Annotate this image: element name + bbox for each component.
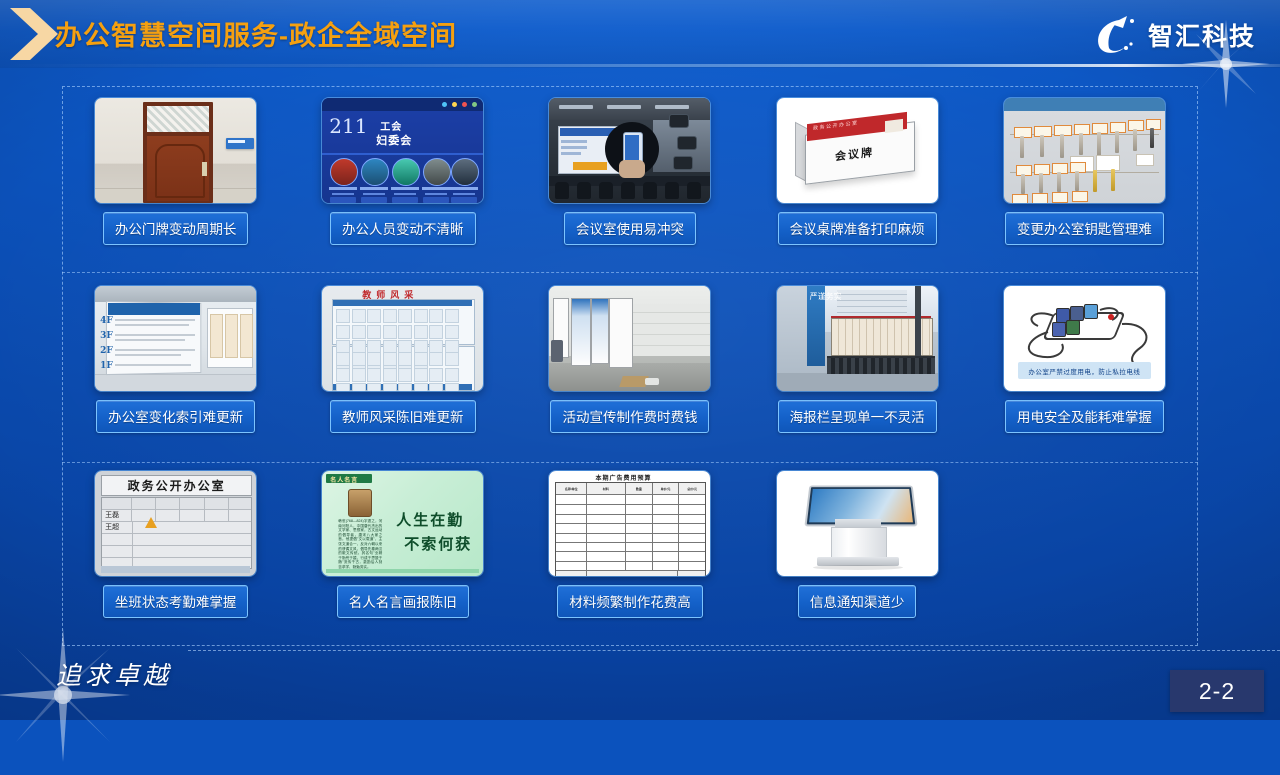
grid-item[interactable]: 信息通知渠道少 [744, 471, 971, 631]
grid-item[interactable]: 211 工会 妇委会 办公人员变动不清晰 [289, 98, 516, 258]
attendance-board-photo[interactable]: 政务公开办公室 [95, 471, 256, 576]
grid-row-3: 政务公开办公室 [62, 471, 1198, 631]
advertising-budget-table-photo[interactable]: 本期广告费用预算 名称/单位 材料 数量 单价/元 总价/元 [549, 471, 710, 576]
item-caption: 变更办公室钥匙管理难 [1005, 212, 1164, 245]
slide-header: 办公智慧空间服务-政企全域空间 智汇科技 [0, 0, 1280, 68]
brand-logo: 智汇科技 [1089, 12, 1256, 58]
plate-line-1: 工会 [380, 118, 402, 133]
slide-motto: 追求卓越 [56, 656, 172, 692]
item-caption: 名人名言画报陈旧 [337, 585, 469, 618]
quote-line-1: 人生在勤 [396, 509, 464, 530]
rollup-banners-hallway-photo[interactable] [549, 286, 710, 391]
budget-col-2: 数量 [626, 483, 654, 494]
celebrity-quote-poster-photo[interactable]: 名人名言 韩愈(768—824)字退之，河南河阳人，中国唐代杰出的文学家、思想家… [322, 471, 483, 576]
item-caption: 办公门牌变动周期长 [103, 212, 249, 245]
grid-item[interactable]: 政务公开办公室 会议牌 会议桌牌准备打印麻烦 [744, 98, 971, 258]
brand-name: 智汇科技 [1148, 17, 1256, 53]
budget-table-title: 本期广告费用预算 [595, 473, 651, 482]
grid-item[interactable]: 严谨务实 海报栏呈现单一不灵活 [744, 286, 971, 446]
poster-header: 名人名言 [330, 475, 358, 484]
meeting-room-booking-photo[interactable] [549, 98, 710, 203]
grid-item[interactable]: 4F 3F 2F 1F 办公室变化索引难更新 [62, 286, 289, 446]
grid-item[interactable]: 活动宣传制作费时费钱 [516, 286, 743, 446]
office-door-nameplate-photo[interactable] [95, 98, 256, 203]
floor-label-3: 3F [100, 331, 113, 341]
grid-item-empty [971, 471, 1198, 631]
teacher-profile-wall-photo[interactable]: 教师风采 [322, 286, 483, 391]
floor-directory-board-photo[interactable]: 4F 3F 2F 1F [95, 286, 256, 391]
grid-item[interactable]: 会议室使用易冲突 [516, 98, 743, 258]
brand-swoosh-icon [1089, 14, 1141, 56]
grid-row-2: 4F 3F 2F 1F 办公室变化索引难更新 [62, 286, 1198, 446]
floor-label-1: 1F [100, 361, 113, 371]
budget-col-3: 单价/元 [653, 483, 679, 494]
item-caption: 坐班状态考勤难掌握 [103, 585, 249, 618]
item-caption: 会议室使用易冲突 [564, 212, 696, 245]
attendance-row-2-name: 王超 [105, 522, 119, 532]
item-caption: 教师风采陈旧难更新 [330, 400, 476, 433]
poster-bulletin-wall-photo[interactable]: 严谨务实 [777, 286, 938, 391]
budget-col-1: 材料 [587, 483, 625, 494]
grid-item[interactable]: 名人名言 韩愈(768—824)字退之，河南河阳人，中国唐代杰出的文学家、思想家… [289, 471, 516, 631]
budget-col-0: 名称/单位 [556, 483, 587, 494]
floor-label-2: 2F [100, 346, 113, 356]
grid-item[interactable]: 变更办公室钥匙管理难 [971, 98, 1198, 258]
item-caption: 办公人员变动不清晰 [330, 212, 476, 245]
grid-item[interactable]: 政务公开办公室 [62, 471, 289, 631]
item-caption: 海报栏呈现单一不灵活 [778, 400, 937, 433]
grid-item[interactable]: 办公室严禁过度用电，防止私拉电线 用电安全及能耗难掌握 [971, 286, 1198, 446]
page-number-badge: 2-2 [1170, 670, 1264, 712]
safety-caption: 办公室严禁过度用电，防止私拉电线 [1018, 362, 1151, 379]
item-caption: 活动宣传制作费时费钱 [550, 400, 709, 433]
attendance-board-title: 政务公开办公室 [128, 477, 226, 494]
footer-divider [188, 650, 1280, 651]
digital-door-plate-photo[interactable]: 211 工会 妇委会 [322, 98, 483, 203]
grid-item[interactable]: 教师风采 [289, 286, 516, 446]
desk-tent-card-photo[interactable]: 政务公开办公室 会议牌 [777, 98, 938, 203]
budget-col-4: 总价/元 [679, 483, 706, 494]
quote-line-2: 不索何获 [404, 533, 472, 554]
grid-item[interactable]: 办公门牌变动周期长 [62, 98, 289, 258]
plate-line-2: 妇委会 [376, 132, 412, 148]
floor-label-4: 4F [100, 316, 113, 326]
item-caption: 信息通知渠道少 [798, 585, 917, 618]
power-strip-safety-illustration[interactable]: 办公室严禁过度用电，防止私拉电线 [1004, 286, 1165, 391]
key-cabinet-photo[interactable] [1004, 98, 1165, 203]
item-caption: 会议桌牌准备打印麻烦 [778, 212, 937, 245]
page-title: 办公智慧空间服务-政企全域空间 [55, 14, 457, 53]
grid-row-1: 办公门牌变动周期长 211 工会 妇委会 [62, 98, 1198, 258]
touchscreen-kiosk-photo[interactable] [777, 471, 938, 576]
item-caption: 办公室变化索引难更新 [96, 400, 255, 433]
pillar-text: 严谨务实 [810, 292, 842, 302]
pain-point-grid: 办公门牌变动周期长 211 工会 妇委会 [62, 86, 1198, 646]
attendance-row-1-name: 王磊 [105, 510, 119, 520]
room-number: 211 [329, 114, 367, 138]
header-divider [0, 64, 1280, 67]
grid-item[interactable]: 本期广告费用预算 名称/单位 材料 数量 单价/元 总价/元 [516, 471, 743, 631]
item-caption: 材料频繁制作花费高 [557, 585, 703, 618]
item-caption: 用电安全及能耗难掌握 [1005, 400, 1164, 433]
